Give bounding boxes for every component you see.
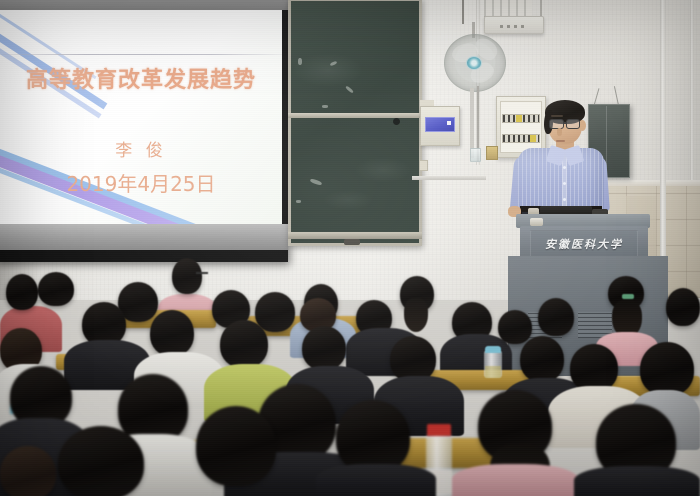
- student-head: [640, 342, 694, 396]
- bottle-cap: [485, 346, 501, 353]
- slide-date: 2019年4月25日: [0, 168, 282, 197]
- student-shoulders: [452, 464, 578, 496]
- student-head: [6, 274, 38, 310]
- student-head: [302, 326, 346, 370]
- slide-title: 高等教育改革发展趋势: [0, 62, 282, 94]
- student-head: [666, 288, 700, 326]
- student-head: [150, 310, 194, 356]
- hanging-wire: [462, 0, 464, 24]
- breaker-switch: [516, 115, 522, 122]
- audience-seating: [0, 258, 700, 496]
- student-head: [220, 320, 268, 368]
- speaker-nose: [557, 128, 562, 136]
- chalk-mark: [298, 58, 302, 65]
- eyeglasses-arm: [196, 272, 208, 274]
- student-head: [58, 426, 144, 496]
- fan-hub: [466, 56, 482, 70]
- blackboard-chalk-tray: [288, 232, 422, 239]
- slide-divider-line: [0, 54, 282, 55]
- student-head: [172, 258, 202, 294]
- blackboard-chalk-smudges: [288, 0, 422, 248]
- chalk-mark: [322, 105, 328, 108]
- screen-bottom-bar: [0, 224, 288, 250]
- bottle-liquid: [485, 366, 501, 378]
- screen-top-bar: [0, 0, 288, 10]
- podium-university-name: 安徽医科大学: [530, 232, 638, 256]
- podium-cup-base: [530, 218, 543, 226]
- slide-author: 李 俊: [0, 136, 282, 161]
- student-head: [520, 336, 564, 382]
- speaker-eyebrow: [551, 115, 563, 117]
- wall-outlet: [419, 160, 428, 171]
- breaker-switch: [530, 135, 536, 142]
- student-head: [0, 446, 56, 496]
- student-head: [498, 310, 532, 344]
- hair-clip: [622, 294, 634, 299]
- cable-rack: [484, 0, 532, 17]
- student-head: [538, 298, 574, 336]
- chalk-mark: [296, 200, 301, 203]
- presentation-slide: 高等教育改革发展趋势 李 俊 2019年4月25日: [0, 10, 282, 224]
- equipment-indicator-dots: [500, 25, 524, 28]
- wall-conduit-pipe: [690, 0, 694, 180]
- speaker-ear: [579, 120, 586, 131]
- student-shoulders: [574, 466, 700, 496]
- eyeglasses-lens-left: [549, 119, 564, 129]
- wall-conduit-pipe: [660, 0, 666, 300]
- blackboard-panel-divider: [288, 113, 422, 118]
- blackboard-clip: [344, 239, 360, 245]
- student-head: [570, 344, 618, 392]
- control-panel-led: [447, 121, 451, 125]
- student-head: [38, 272, 74, 306]
- student-head: [255, 292, 295, 332]
- shirt-button: [563, 198, 566, 201]
- small-wall-box: [486, 146, 498, 160]
- shirt-button: [563, 166, 566, 169]
- student-ponytail: [404, 298, 428, 332]
- projector-screen: 高等教育改革发展趋势 李 俊 2019年4月25日: [0, 0, 288, 262]
- bottle-cap: [427, 424, 451, 436]
- breaker-panel-inner: [500, 101, 542, 153]
- eyeglasses-lens-right: [566, 119, 580, 129]
- lecture-hall-photo: 高等教育改革发展趋势 李 俊 2019年4月25日: [0, 0, 700, 496]
- shirt-button: [563, 182, 566, 185]
- horizontal-conduit: [412, 176, 486, 180]
- student-head: [336, 400, 410, 474]
- speaker-mouth: [556, 140, 565, 142]
- blackboard-magnet: [393, 118, 400, 125]
- glass-jar: [470, 148, 481, 162]
- eyeglasses-bridge: [563, 122, 567, 124]
- student-head: [196, 406, 276, 486]
- student-shoulders: [316, 464, 436, 496]
